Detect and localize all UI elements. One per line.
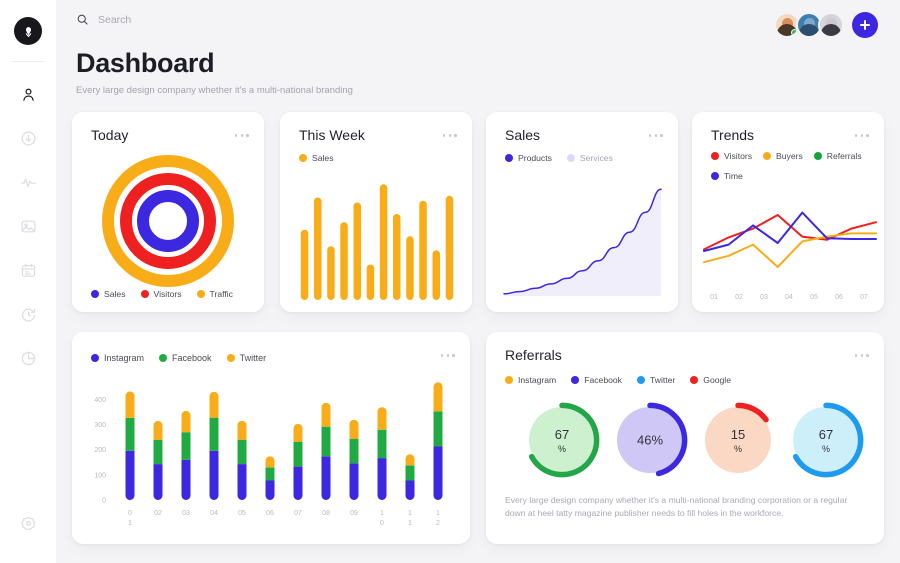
segment-twitter [434, 382, 443, 411]
sidebar-item-settings[interactable] [10, 501, 46, 545]
legend-label: Services [580, 153, 613, 163]
legend-label: Sales [104, 289, 126, 299]
segment-twitter [238, 421, 247, 440]
gauge-1[interactable]: 67% [529, 405, 597, 474]
legend-label: Sales [312, 153, 334, 163]
segment-instagram [210, 451, 219, 500]
legend-item[interactable]: Time [711, 166, 743, 186]
legend-label: Buyers [776, 151, 803, 161]
segment-instagram [266, 480, 275, 500]
calendar-icon [20, 262, 37, 279]
card-title: Trends [711, 127, 754, 143]
segment-instagram [350, 463, 359, 500]
bar[interactable] [314, 198, 322, 301]
legend-item[interactable]: Instagram [91, 348, 144, 368]
card-this-week: This Week Sales [280, 112, 472, 312]
avatar-group [774, 12, 878, 38]
legend-label: Products [518, 153, 552, 163]
segment-instagram [294, 467, 303, 500]
page-subtitle: Every large design company whether it's … [76, 85, 353, 96]
sidebar-nav [0, 72, 56, 380]
legend-label: Twitter [650, 375, 675, 385]
bar[interactable] [406, 236, 414, 300]
bar[interactable] [340, 222, 348, 300]
segment-instagram [154, 464, 163, 500]
segment-facebook [350, 439, 359, 464]
x-axis-label: 1 [380, 510, 384, 517]
legend-label: Visitors [154, 289, 182, 299]
segment-twitter [182, 411, 191, 432]
legend-label: Facebook [172, 353, 212, 363]
card-title: This Week [299, 127, 365, 143]
more-dots-icon[interactable] [649, 134, 663, 137]
card-title: Sales [505, 127, 540, 143]
x-axis-label: 03 [760, 294, 768, 301]
legend-swatch [227, 354, 235, 362]
legend-item[interactable]: Twitter [637, 370, 675, 390]
cloud-download-icon [20, 130, 37, 147]
stacked-bar[interactable] [126, 392, 135, 501]
stacked-bar[interactable] [182, 411, 191, 500]
legend-label: Facebook [584, 375, 622, 385]
x-axis-label: 06 [835, 294, 843, 301]
card-title: Referrals [505, 347, 562, 363]
stacked-bar[interactable] [322, 403, 331, 500]
x-axis-label: 0 [380, 520, 384, 527]
legend-swatch [711, 152, 719, 160]
activity-pulse-icon [20, 174, 37, 191]
sidebar-divider [12, 61, 44, 62]
segment-facebook [322, 427, 331, 457]
segment-facebook [238, 440, 247, 464]
gear-icon [20, 515, 37, 532]
segment-facebook [266, 467, 275, 480]
sidebar [0, 0, 56, 563]
legend-label: Referrals [827, 151, 862, 161]
y-axis-label: 200 [94, 447, 106, 454]
bar[interactable] [393, 214, 401, 300]
social-stacked-bar-chart: 0100200300400010203040506070809101112 [72, 374, 470, 544]
x-axis-label: 06 [266, 510, 274, 517]
area-fill [504, 189, 661, 296]
legend-swatch [299, 154, 307, 162]
today-rings-chart [72, 154, 264, 289]
gauge-unit: % [822, 444, 830, 454]
more-dots-icon[interactable] [443, 134, 457, 137]
card-sales: Sales Products Services [486, 112, 678, 312]
card-today: Today Sales Visitors Traffic [72, 112, 264, 312]
referral-gauges: 67%46%15%67% [486, 390, 884, 495]
avatar-body [799, 24, 819, 36]
segment-facebook [182, 432, 191, 460]
x-axis-label: 04 [785, 294, 793, 301]
this-week-bar-chart [280, 172, 472, 304]
legend-item[interactable]: Products [505, 148, 552, 168]
gauge-2[interactable]: 46% [617, 405, 685, 473]
segment-twitter [126, 392, 135, 418]
sales-legend: Products Services [505, 148, 628, 168]
sales-area-chart [486, 174, 678, 306]
week-legend: Sales [299, 148, 349, 168]
stacked-bar[interactable] [266, 456, 275, 500]
x-axis-label: 1 [128, 520, 132, 527]
card-trends: Trends Visitors Buyers Referrals Time [692, 112, 884, 312]
avatar-3[interactable] [818, 12, 844, 38]
gauge-4[interactable]: 67% [793, 405, 861, 474]
segment-facebook [154, 440, 163, 464]
gauge-value: 46% [637, 433, 663, 448]
image-icon [20, 218, 37, 235]
x-axis-label: 03 [182, 510, 190, 517]
gauge-value: 67 [819, 427, 833, 442]
segment-facebook [126, 418, 135, 451]
legend-label: Instagram [518, 375, 556, 385]
more-dots-icon[interactable] [855, 354, 869, 357]
line-time [704, 213, 876, 251]
x-axis-label: 0 [128, 510, 132, 517]
legend-item[interactable]: Facebook [571, 370, 622, 390]
y-axis-label: 300 [94, 422, 106, 429]
stacked-bar[interactable] [238, 421, 247, 500]
person-icon [20, 86, 37, 103]
x-axis-label: 08 [322, 510, 330, 517]
page-title: Dashboard [76, 48, 214, 79]
x-axis-label: 05 [238, 510, 246, 517]
topbar [56, 0, 900, 48]
dashboard-app: Dashboard Every large design company whe… [0, 0, 900, 563]
segment-twitter [294, 424, 303, 442]
sidebar-item-profile[interactable] [10, 72, 46, 116]
legend-label: Instagram [104, 353, 144, 363]
segment-twitter [322, 403, 331, 427]
more-dots-icon[interactable] [855, 134, 869, 137]
gauge-value: 67 [555, 427, 569, 442]
gauge-value: 15 [731, 427, 745, 442]
card-title: Today [91, 127, 128, 143]
segment-twitter [266, 456, 275, 467]
segment-facebook [210, 418, 219, 451]
search-box[interactable] [76, 13, 268, 26]
y-axis-label: 100 [94, 472, 106, 479]
legend-swatch [814, 152, 822, 160]
legend-label: Twitter [240, 353, 267, 363]
segment-facebook [294, 442, 303, 467]
segment-twitter [378, 407, 387, 430]
bar[interactable] [380, 184, 388, 300]
leaf-logo-icon [21, 24, 36, 39]
app-logo[interactable] [14, 17, 42, 45]
timer-icon [20, 306, 37, 323]
segment-instagram [434, 447, 443, 501]
stacked-bar[interactable] [434, 382, 443, 500]
stacked-bar[interactable] [350, 420, 359, 500]
bar[interactable] [367, 265, 375, 301]
card-referrals: Referrals Instagram Facebook Twitter G [486, 332, 884, 544]
legend-item[interactable]: Sales [299, 148, 334, 168]
sidebar-item-reports[interactable] [10, 336, 46, 380]
legend-swatch [571, 376, 579, 384]
segment-instagram [238, 464, 247, 500]
legend-swatch [197, 290, 205, 298]
segment-facebook [434, 411, 443, 446]
bar[interactable] [446, 196, 454, 300]
more-dots-icon[interactable] [235, 134, 249, 137]
legend-item[interactable]: Traffic [197, 284, 233, 304]
x-axis-label: 1 [408, 520, 412, 527]
sidebar-item-downloads[interactable] [10, 116, 46, 160]
stacked-bar[interactable] [378, 407, 387, 500]
legend-item[interactable]: Referrals [814, 146, 862, 166]
bar[interactable] [419, 201, 427, 300]
segment-twitter [210, 392, 219, 418]
segment-instagram [378, 458, 387, 500]
x-axis-label: 2 [436, 520, 440, 527]
legend-swatch [159, 354, 167, 362]
stacked-bar[interactable] [406, 454, 415, 500]
legend-swatch [567, 154, 575, 162]
segment-facebook [406, 465, 415, 480]
x-axis-label: 02 [735, 294, 743, 301]
bar[interactable] [433, 250, 441, 300]
x-axis-label: 07 [294, 510, 302, 517]
x-axis-label: 1 [436, 510, 440, 517]
x-axis-label: 1 [408, 510, 412, 517]
main-content: Dashboard Every large design company whe… [56, 0, 900, 563]
legend-item[interactable]: Visitors [711, 146, 752, 166]
bar[interactable] [354, 203, 362, 301]
ring-sales [143, 196, 193, 246]
referrals-legend: Instagram Facebook Twitter Google [505, 370, 746, 390]
legend-item[interactable]: Sales [91, 284, 126, 304]
legend-item[interactable]: Instagram [505, 370, 556, 390]
search-icon [76, 13, 89, 26]
legend-swatch [91, 354, 99, 362]
x-axis-label: 05 [810, 294, 818, 301]
sidebar-item-calendar[interactable] [10, 248, 46, 292]
online-status-dot [791, 29, 798, 36]
gauge-unit: % [734, 444, 742, 454]
search-input[interactable] [98, 14, 268, 26]
x-axis-label: 09 [350, 510, 358, 517]
segment-instagram [406, 480, 415, 500]
legend-item[interactable]: Google [690, 370, 731, 390]
legend-swatch [690, 376, 698, 384]
segment-twitter [350, 420, 359, 439]
gauge-unit: % [558, 444, 566, 454]
y-axis-label: 0 [102, 497, 106, 504]
add-user-button[interactable] [852, 12, 878, 38]
segment-facebook [378, 430, 387, 458]
legend-label: Time [724, 171, 743, 181]
bar[interactable] [327, 246, 335, 300]
segment-instagram [322, 456, 331, 500]
stacked-bar[interactable] [210, 392, 219, 500]
y-axis-label: 400 [94, 397, 106, 404]
legend-item[interactable]: Twitter [227, 348, 267, 368]
stacked-bar[interactable] [294, 424, 303, 500]
x-axis-label: 07 [860, 294, 868, 301]
bar[interactable] [301, 230, 309, 300]
x-axis-label: 01 [710, 294, 718, 301]
legend-label: Visitors [724, 151, 752, 161]
sidebar-item-timer[interactable] [10, 292, 46, 336]
x-axis-label: 02 [154, 510, 162, 517]
segment-twitter [406, 454, 415, 465]
legend-swatch [141, 290, 149, 298]
gauge-3[interactable]: 15% [705, 405, 771, 473]
trends-legend: Visitors Buyers Referrals Time [711, 146, 873, 186]
legend-item[interactable]: Services [567, 148, 613, 168]
stacked-bar[interactable] [154, 421, 163, 500]
legend-swatch [91, 290, 99, 298]
legend-item[interactable]: Visitors [141, 284, 182, 304]
legend-item[interactable]: Buyers [763, 146, 803, 166]
legend-label: Google [703, 375, 731, 385]
trends-line-chart: 01020304050607 [692, 187, 884, 312]
legend-swatch [711, 172, 719, 180]
pie-chart-icon [20, 350, 37, 367]
segment-instagram [126, 451, 135, 500]
legend-item[interactable]: Facebook [159, 348, 212, 368]
x-axis-label: 04 [210, 510, 218, 517]
segment-twitter [154, 421, 163, 440]
legend-swatch [763, 152, 771, 160]
legend-label: Traffic [210, 289, 233, 299]
more-dots-icon[interactable] [441, 354, 455, 357]
legend-swatch [505, 376, 513, 384]
sidebar-item-activity[interactable] [10, 160, 46, 204]
legend-swatch [637, 376, 645, 384]
card-social-stats: Instagram Facebook Twitter 0100200300400… [72, 332, 470, 544]
today-legend: Sales Visitors Traffic [91, 284, 248, 304]
sidebar-item-media[interactable] [10, 204, 46, 248]
social-legend: Instagram Facebook Twitter [91, 348, 281, 368]
avatar-body [821, 24, 841, 36]
referrals-note: Every large design company whether it's … [505, 494, 865, 521]
legend-swatch [505, 154, 513, 162]
segment-instagram [182, 460, 191, 500]
